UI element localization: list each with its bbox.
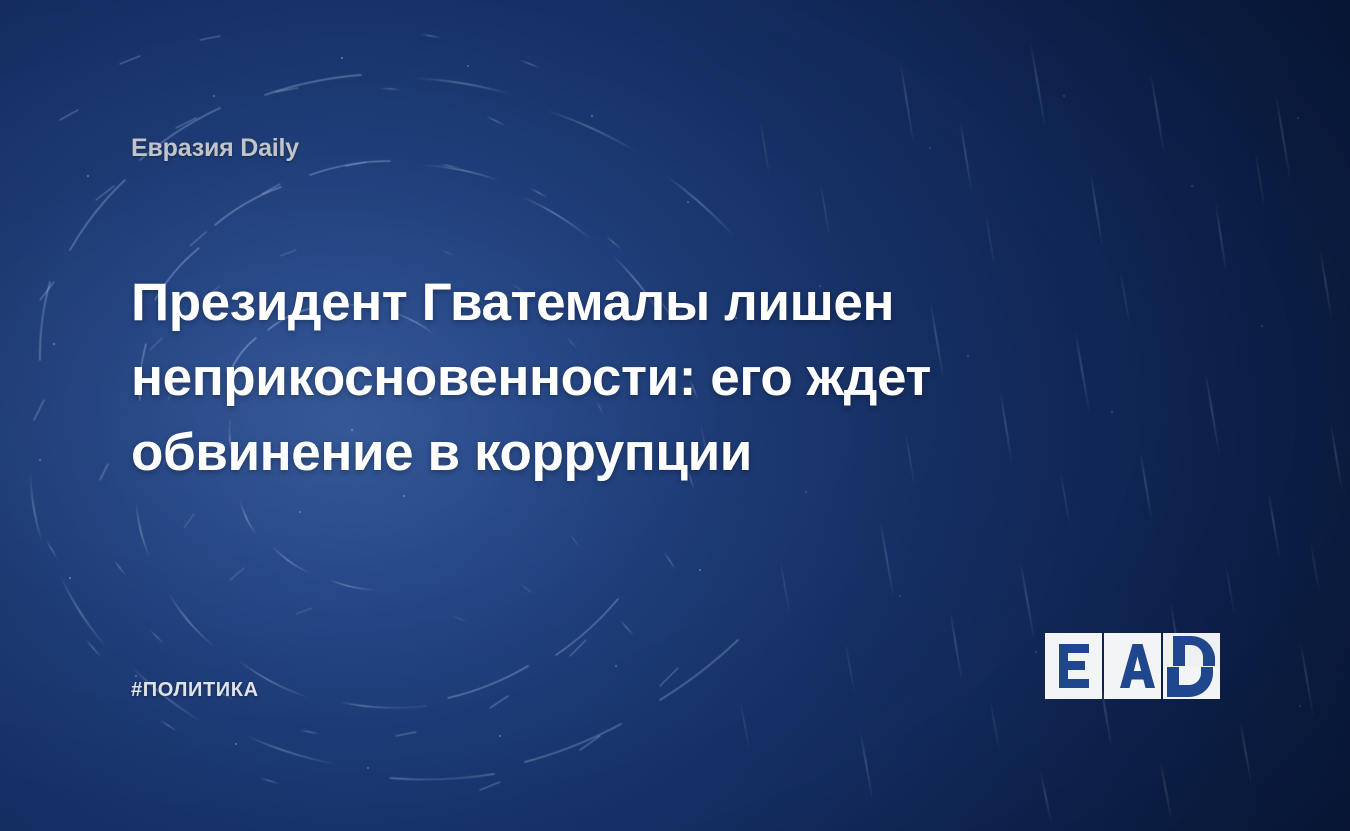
site-brand-name: Евразия Daily	[131, 136, 299, 161]
social-share-card: Евразия Daily Президент Гватемалы лишен …	[0, 0, 1350, 831]
card-content: Евразия Daily Президент Гватемалы лишен …	[0, 0, 1350, 831]
category-tag: #ПОЛИТИКА	[131, 680, 259, 700]
eadaily-logo	[1045, 633, 1220, 699]
article-headline: Президент Гватемалы лишен неприкосновенн…	[131, 265, 991, 490]
